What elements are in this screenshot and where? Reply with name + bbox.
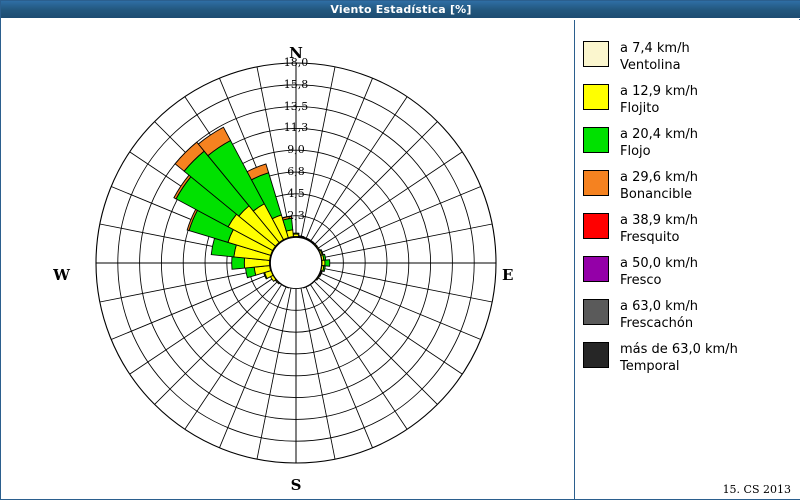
legend-label: a 12,9 km/hFlojito [620, 83, 698, 117]
legend-label: a 38,9 km/hFresquito [620, 212, 698, 246]
legend-term: Fresco [620, 272, 698, 289]
wind-rose-svg [2, 20, 570, 499]
wind-rose-petal-segment [293, 233, 299, 234]
legend-item[interactable]: más de 63,0 km/hTemporal [583, 341, 798, 383]
radial-tick-label: 15,8 [269, 78, 323, 91]
legend-item[interactable]: a 20,4 km/hFlojo [583, 126, 798, 168]
legend-label: a 20,4 km/hFlojo [620, 126, 698, 160]
legend-color-swatch [583, 127, 609, 153]
legend-item[interactable]: a 7,4 km/hVentolina [583, 40, 798, 82]
legend-speed: a 12,9 km/h [620, 84, 698, 99]
wind-rose-plot-area: N S E W 2,34,56,89,011,313,515,818,0 [2, 20, 570, 499]
radial-tick-label: 18,0 [269, 56, 323, 69]
legend-color-swatch [583, 213, 609, 239]
legend-label: a 29,6 km/hBonancible [620, 169, 698, 203]
radial-tick-label: 9,0 [269, 143, 323, 156]
radial-tick-label: 2,3 [269, 209, 323, 222]
legend-speed: a 29,6 km/h [620, 170, 698, 185]
legend-label: más de 63,0 km/hTemporal [620, 341, 738, 375]
legend-label: a 50,0 km/hFresco [620, 255, 698, 289]
radial-tick-label: 11,3 [269, 121, 323, 134]
legend-term: Temporal [620, 358, 738, 375]
legend-speed: a 20,4 km/h [620, 127, 698, 142]
compass-label-south: S [266, 476, 326, 494]
grid-spoke [155, 263, 296, 404]
compass-label-east: E [502, 266, 552, 284]
legend-speed: a 7,4 km/h [620, 41, 690, 56]
legend-term: Ventolina [620, 57, 690, 74]
legend-item[interactable]: a 38,9 km/hFresquito [583, 212, 798, 254]
legend-item[interactable]: a 12,9 km/hFlojito [583, 83, 798, 125]
legend-color-swatch [583, 256, 609, 282]
legend-color-swatch [583, 41, 609, 67]
window-title-bar: Viento Estadística [%] [1, 1, 800, 19]
legend-color-swatch [583, 170, 609, 196]
legend-color-swatch [583, 342, 609, 368]
legend-term: Flojito [620, 100, 698, 117]
wind-rose-petal-segment [245, 267, 255, 278]
wind-rose-window: Viento Estadística [%] N S E W 2,34,56,8… [0, 0, 800, 500]
legend-speed: más de 63,0 km/h [620, 342, 738, 357]
compass-label-west: W [20, 266, 70, 284]
legend-speed: a 38,9 km/h [620, 213, 698, 228]
wind-rose-petal-segment [232, 257, 245, 270]
calm-centre-circle [270, 237, 321, 288]
legend-color-swatch [583, 84, 609, 110]
legend-item[interactable]: a 29,6 km/hBonancible [583, 169, 798, 211]
wind-rose-petal-segment [325, 260, 330, 267]
legend-term: Frescachón [620, 315, 698, 332]
legend-term: Bonancible [620, 186, 698, 203]
footer-credit: 15. CS 2013 [723, 483, 791, 496]
calm-circle [270, 237, 321, 288]
legend-speed: a 63,0 km/h [620, 299, 698, 314]
window-title: Viento Estadística [%] [1, 1, 800, 19]
grid-spoke [296, 263, 437, 404]
legend-label: a 63,0 km/hFrescachón [620, 298, 698, 332]
legend-label: a 7,4 km/hVentolina [620, 40, 690, 74]
radial-tick-label: 13,5 [269, 100, 323, 113]
legend-term: Fresquito [620, 229, 698, 246]
legend-item[interactable]: a 50,0 km/hFresco [583, 255, 798, 297]
legend-item[interactable]: a 63,0 km/hFrescachón [583, 298, 798, 340]
legend-color-swatch [583, 299, 609, 325]
radial-tick-label: 6,8 [269, 165, 323, 178]
legend-panel: a 7,4 km/hVentolinaa 12,9 km/hFlojitoa 2… [574, 20, 800, 499]
legend-term: Flojo [620, 143, 698, 160]
radial-tick-label: 4,5 [269, 187, 323, 200]
legend-speed: a 50,0 km/h [620, 256, 698, 271]
